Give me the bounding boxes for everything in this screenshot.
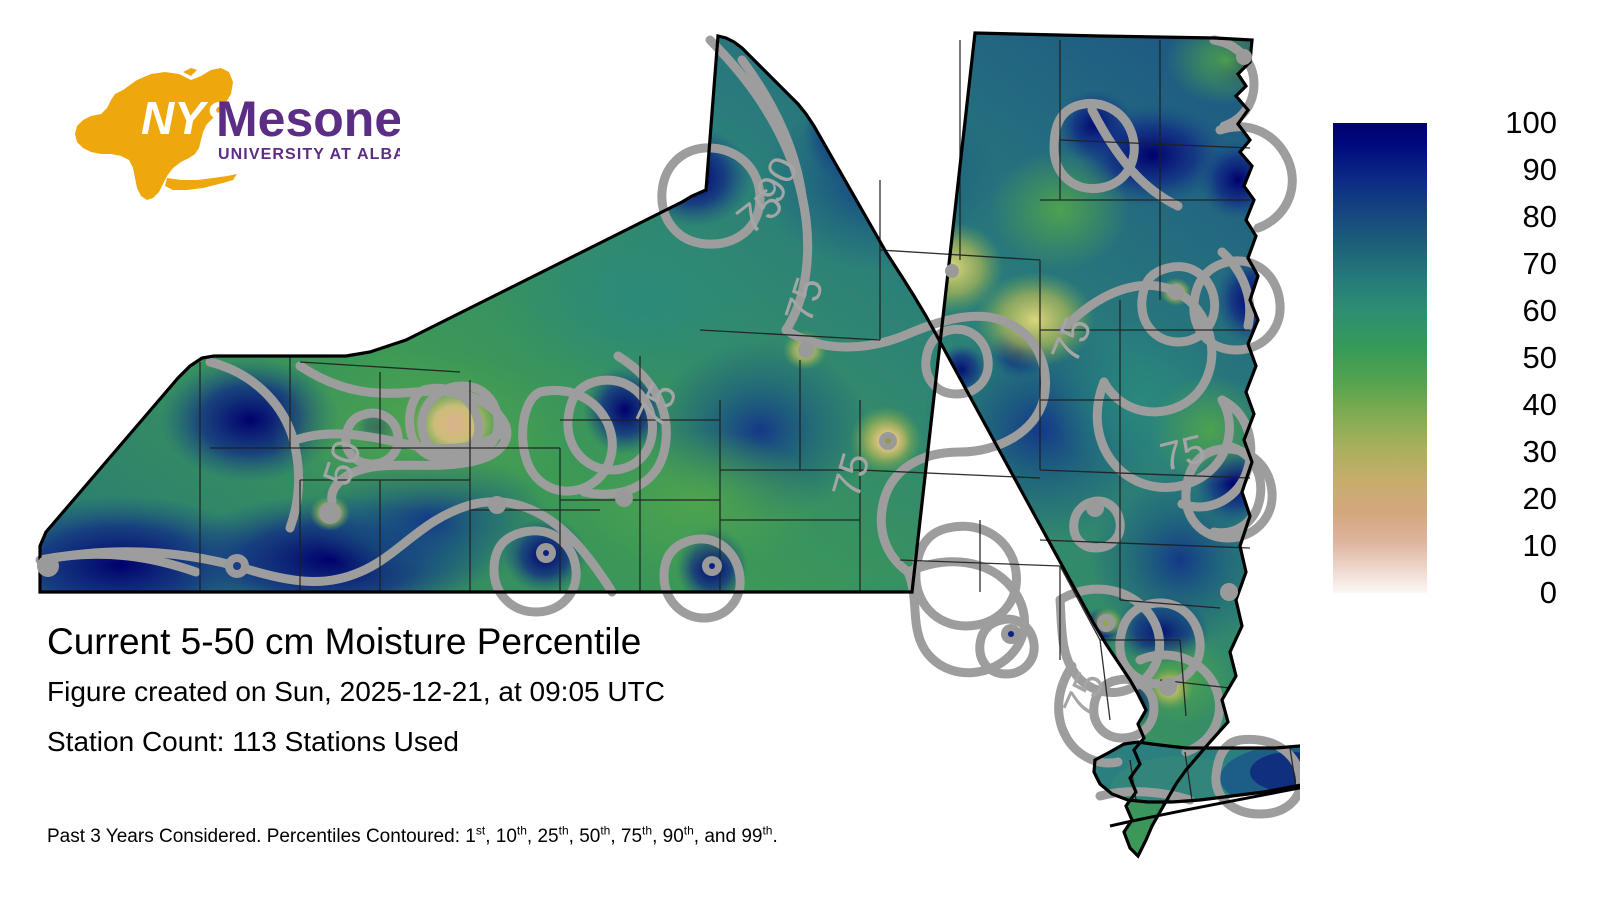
footnote-level-10: 10th [496,826,527,847]
moisture-percentile-colorbar [1333,123,1427,593]
colorbar-tick-70: 70 [1523,248,1557,279]
colorbar-tick-60: 60 [1523,295,1557,326]
figure-created-line: Figure created on Sun, 2025-12-21, at 09… [47,670,1047,714]
colorbar-panel: 1009080706050403020100 [1333,118,1583,608]
logo-tagline: UNIVERSITY AT ALBANY [218,146,400,163]
logo-islet [183,68,197,76]
caption-block: Current 5-50 cm Moisture Percentile Figu… [47,620,1047,764]
colorbar-tick-30: 30 [1523,436,1557,467]
colorbar-tick-80: 80 [1523,201,1557,232]
colorbar-tick-90: 90 [1523,154,1557,185]
footnote-level-25: 25th [537,826,568,847]
logo-long-island [165,174,237,190]
footnote-level-1: 1st [465,826,485,847]
figure-station-count-line: Station Count: 113 Stations Used [47,720,1047,764]
colorbar-tick-40: 40 [1523,389,1557,420]
footnote-level-99: 99th [741,826,772,847]
colorbar-tick-0: 0 [1540,577,1557,608]
footnote-level-90: 90th [663,826,694,847]
figure-footnote: Past 3 Years Considered. Percentiles Con… [47,826,778,848]
colorbar-tick-100: 100 [1505,107,1557,138]
figure-title: Current 5-50 cm Moisture Percentile [47,620,1047,664]
footnote-level-75: 75th [621,826,652,847]
colorbar-tick-10: 10 [1523,530,1557,561]
colorbar-tick-50: 50 [1523,342,1557,373]
footnote-level-50: 50th [579,826,610,847]
colorbar-tick-labels: 1009080706050403020100 [1433,118,1573,608]
nys-mesonet-logo: NYS Mesonet UNIVERSITY AT ALBANY [55,58,400,208]
colorbar-tick-20: 20 [1523,483,1557,514]
logo-mesonet-text: Mesonet [216,91,400,147]
